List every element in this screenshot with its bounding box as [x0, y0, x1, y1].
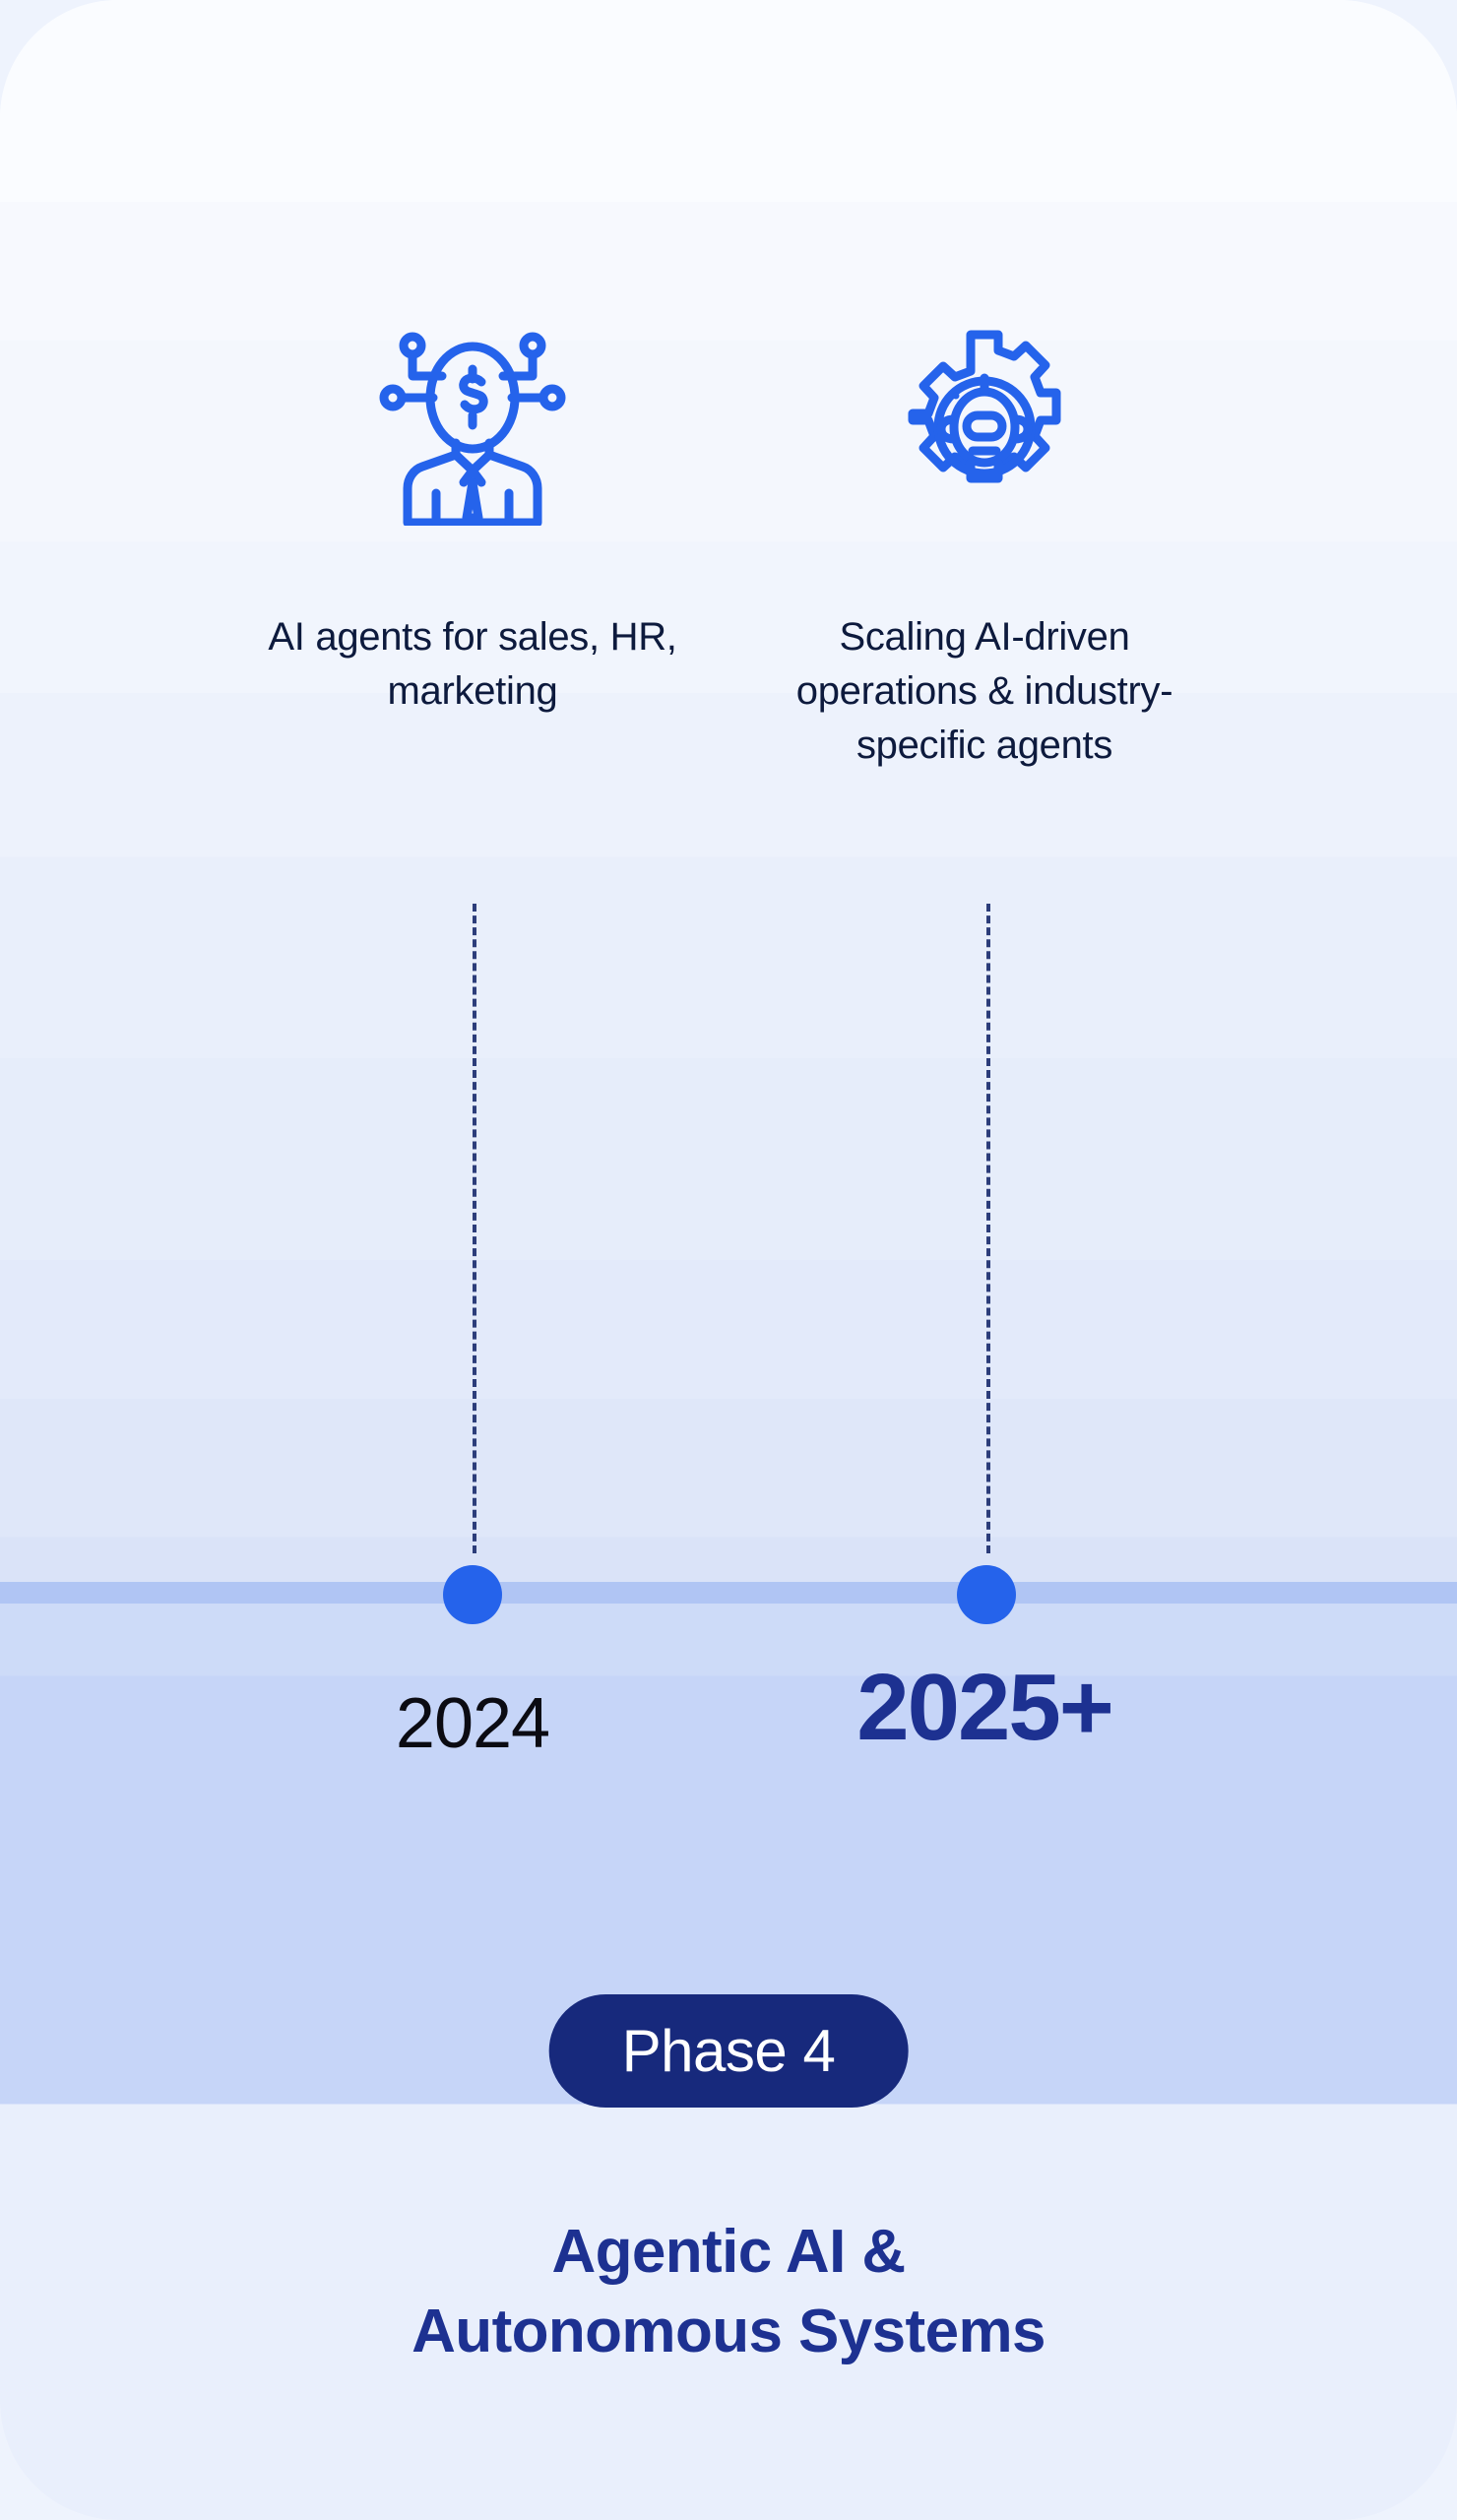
phase-badge[interactable]: Phase 4	[549, 1994, 909, 2108]
phase-card: AI agents for sales, HR, marketing	[0, 0, 1457, 2520]
timeline-year-label: 2024	[276, 1683, 669, 1764]
milestone-connector-line	[986, 904, 990, 1553]
phase-title-line-1: Agentic AI &	[551, 2218, 905, 2286]
timeline-year-label-active: 2025+	[748, 1654, 1221, 1762]
gear-robot-icon	[886, 329, 1083, 526]
timeline-dot-2025[interactable]	[957, 1565, 1016, 1624]
ai-sales-agent-icon	[379, 329, 566, 526]
background-gradient-bands	[0, 0, 1457, 2520]
page-title: Agentic AI & Autonomous Systems	[108, 2213, 1349, 2371]
timeline-dot-2024[interactable]	[443, 1565, 502, 1624]
milestone-description: AI agents for sales, HR, marketing	[266, 610, 679, 719]
phase-title-line-2: Autonomous Systems	[412, 2298, 1045, 2365]
timeline-axis-bar	[0, 1582, 1457, 1604]
milestone-description: Scaling AI-driven operations & industry-…	[748, 610, 1221, 774]
milestone-connector-line	[473, 904, 476, 1553]
